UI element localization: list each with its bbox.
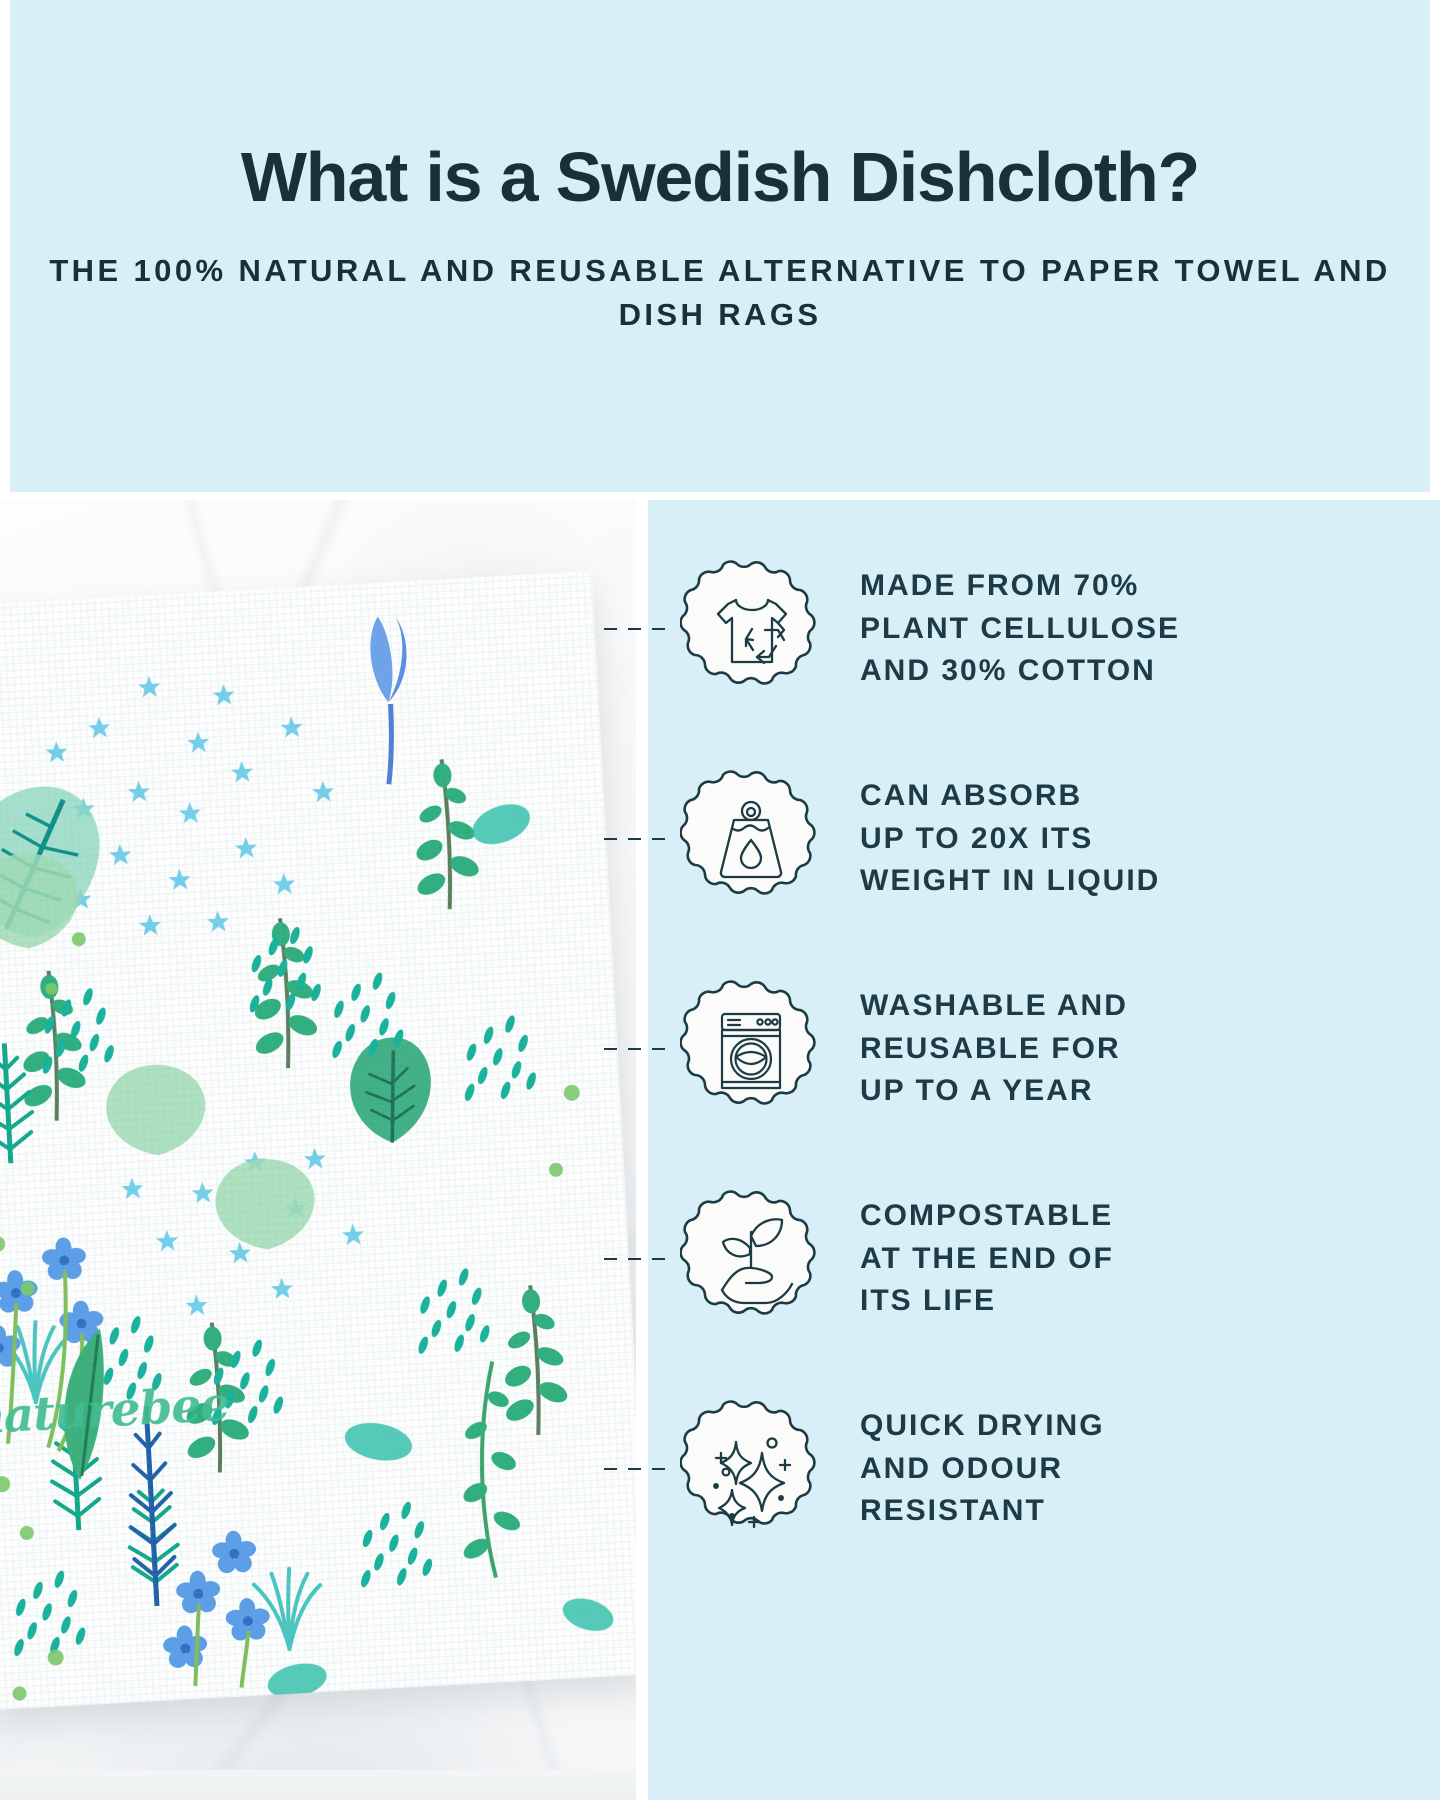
feature-line: UP TO 20X ITS: [860, 818, 1440, 861]
weight-droplet-icon: [680, 768, 822, 910]
features-panel: MADE FROM 70% PLANT CELLULOSE AND 30% CO…: [648, 500, 1440, 1800]
feature-line: AND 30% COTTON: [860, 650, 1440, 693]
feature-line: AND ODOUR: [860, 1448, 1440, 1491]
feature-text: WASHABLE AND REUSABLE FOR UP TO A YEAR: [860, 985, 1440, 1113]
feature-line: ITS LIFE: [860, 1280, 1440, 1323]
connector-dash-line: [604, 1048, 672, 1050]
dishcloth-botanical-print: [0, 571, 648, 1710]
connector-dash-line: [604, 1258, 672, 1260]
feature-line: UP TO A YEAR: [860, 1070, 1440, 1113]
dishcloth-surface: naturebee: [0, 571, 648, 1710]
feature-row-absorb: CAN ABSORB UP TO 20X ITS WEIGHT IN LIQUI…: [648, 768, 1440, 910]
feature-text: QUICK DRYING AND ODOUR RESISTANT: [860, 1405, 1440, 1533]
connector-dash-line: [604, 1468, 672, 1470]
product-photo: naturebee: [0, 500, 648, 1800]
body-area: naturebee: [0, 500, 1440, 1800]
feature-line: COMPOSTABLE: [860, 1195, 1440, 1238]
feature-line: QUICK DRYING: [860, 1405, 1440, 1448]
feature-line: WASHABLE AND: [860, 985, 1440, 1028]
page-subtitle: THE 100% NATURAL AND REUSABLE ALTERNATIV…: [10, 249, 1430, 337]
hand-sprout-icon: [680, 1188, 822, 1330]
feature-row-made-from: MADE FROM 70% PLANT CELLULOSE AND 30% CO…: [648, 558, 1440, 700]
feature-row-compostable: COMPOSTABLE AT THE END OF ITS LIFE: [648, 1188, 1440, 1330]
feature-line: REUSABLE FOR: [860, 1028, 1440, 1071]
feature-text: COMPOSTABLE AT THE END OF ITS LIFE: [860, 1195, 1440, 1323]
feature-row-washable: WASHABLE AND REUSABLE FOR UP TO A YEAR: [648, 978, 1440, 1120]
feature-line: RESISTANT: [860, 1490, 1440, 1533]
feature-line: AT THE END OF: [860, 1238, 1440, 1281]
page-title: What is a Swedish Dishcloth?: [241, 141, 1199, 215]
tshirt-recycle-icon: [680, 558, 822, 700]
header-banner: What is a Swedish Dishcloth? THE 100% NA…: [10, 0, 1430, 492]
infographic-page: What is a Swedish Dishcloth? THE 100% NA…: [0, 0, 1440, 1800]
feature-text: MADE FROM 70% PLANT CELLULOSE AND 30% CO…: [860, 565, 1440, 693]
connector-dash-line: [604, 838, 672, 840]
feature-text: CAN ABSORB UP TO 20X ITS WEIGHT IN LIQUI…: [860, 775, 1440, 903]
feature-line: PLANT CELLULOSE: [860, 608, 1440, 651]
washing-machine-icon: [680, 978, 822, 1120]
sparkles-icon: [680, 1398, 822, 1540]
connector-dash-line: [604, 628, 672, 630]
feature-line: MADE FROM 70%: [860, 565, 1440, 608]
feature-line: CAN ABSORB: [860, 775, 1440, 818]
feature-row-quick-drying: QUICK DRYING AND ODOUR RESISTANT: [648, 1398, 1440, 1540]
dishcloth: naturebee: [0, 571, 648, 1710]
subtitle-line-1: THE 100% NATURAL AND REUSABLE ALTERNATIV…: [49, 253, 967, 288]
feature-line: WEIGHT IN LIQUID: [860, 860, 1440, 903]
counter-edge: [0, 1770, 648, 1800]
